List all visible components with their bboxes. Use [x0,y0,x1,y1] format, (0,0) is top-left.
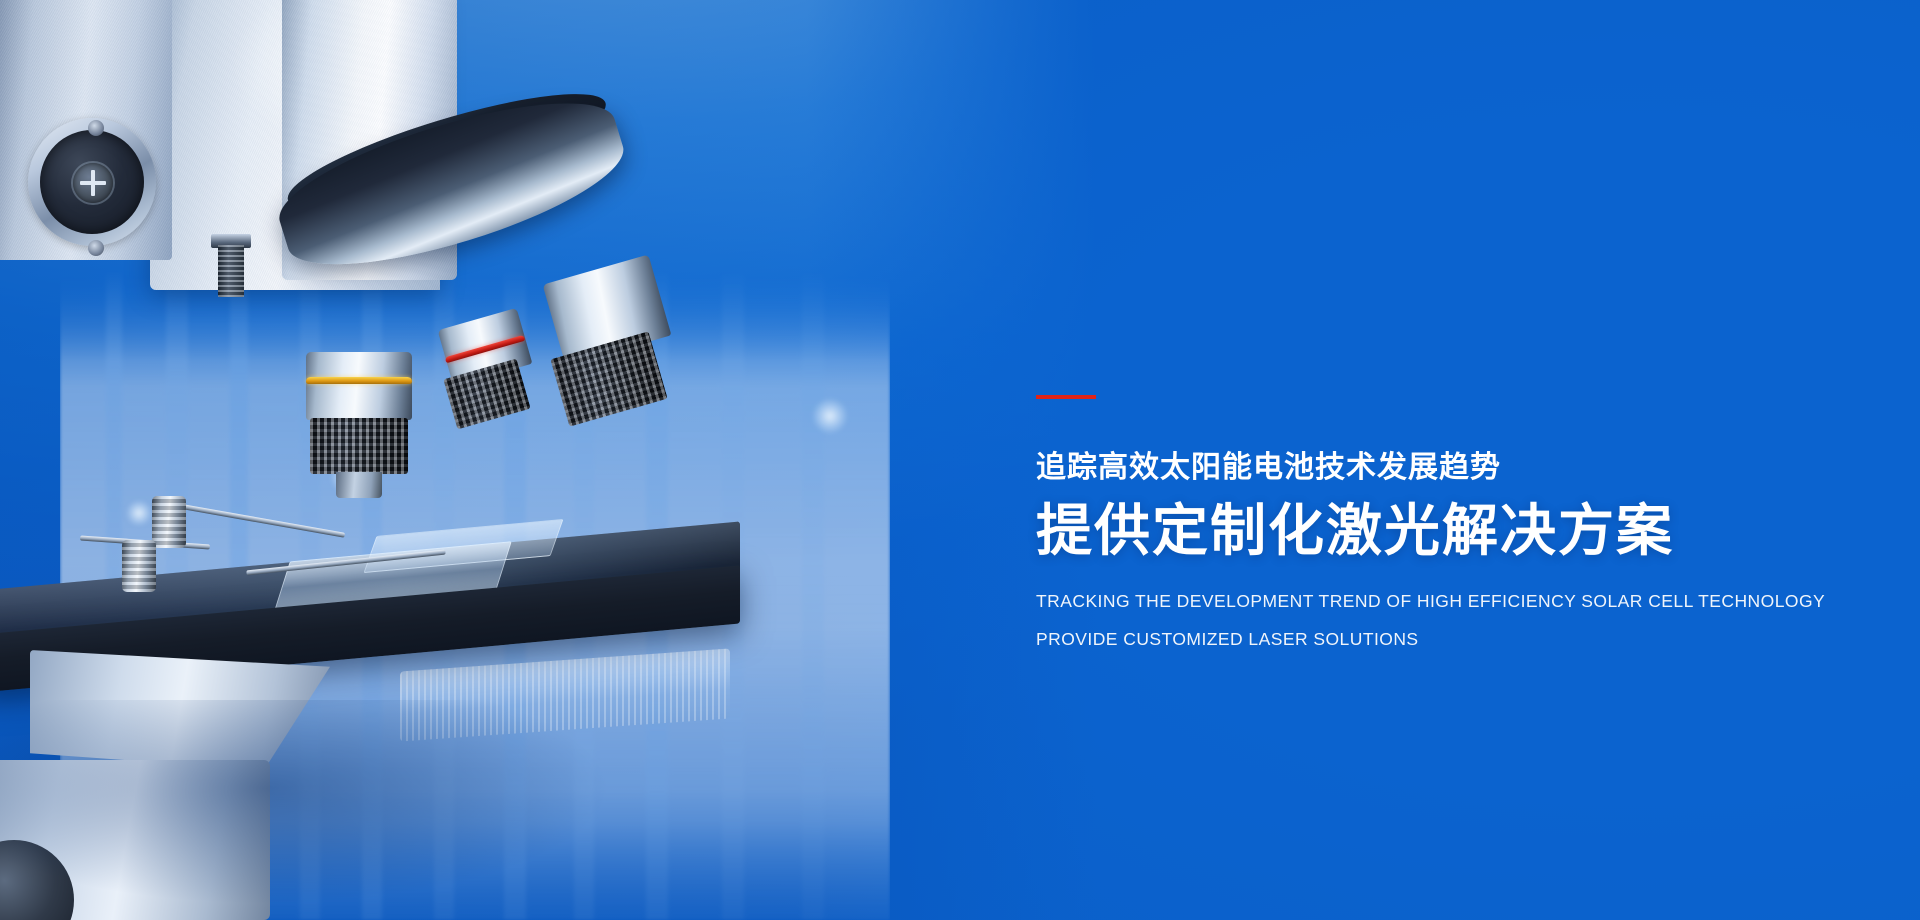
focus-knob-inner [40,130,144,234]
small-screw-icon [88,120,104,136]
focus-rod [218,245,244,297]
stage-clip-post [152,496,186,548]
microscope-shadow [0,700,760,920]
objective-band-yellow [306,377,412,384]
accent-rule [1036,395,1096,399]
hero-english-line-1: TRACKING THE DEVELOPMENT TREND OF HIGH E… [1036,593,1856,611]
objective-lens-barrel [306,352,412,420]
objective-knurled-grip [310,418,408,474]
hero-english-line-2: PROVIDE CUSTOMIZED LASER SOLUTIONS [1036,631,1856,649]
objective-lens-tip [336,472,382,498]
hero-copy-block: 追踪高效太阳能电池技术发展趋势 提供定制化激光解决方案 TRACKING THE… [1036,395,1856,649]
hero-banner: 追踪高效太阳能电池技术发展趋势 提供定制化激光解决方案 TRACKING THE… [0,0,1920,920]
microscope-focus-knob [28,118,156,246]
small-screw-icon [88,240,104,256]
hero-headline: 提供定制化激光解决方案 [1036,500,1856,563]
phillips-screw-icon [73,163,113,203]
stage-clip-post [122,540,156,592]
hero-subheadline: 追踪高效太阳能电池技术发展趋势 [1036,451,1856,484]
stage-clip-arm [177,503,345,537]
